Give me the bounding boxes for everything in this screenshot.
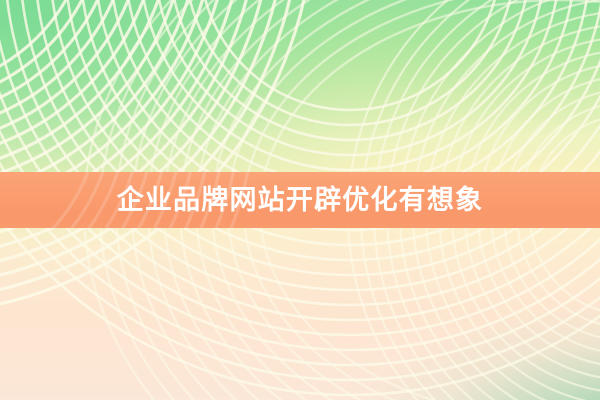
banner-image: 企业品牌网站开辟优化有想象 — [0, 0, 600, 400]
headline-band: 企业品牌网站开辟优化有想象 — [0, 172, 600, 228]
banner-headline-text: 企业品牌网站开辟优化有想象 — [117, 187, 484, 214]
